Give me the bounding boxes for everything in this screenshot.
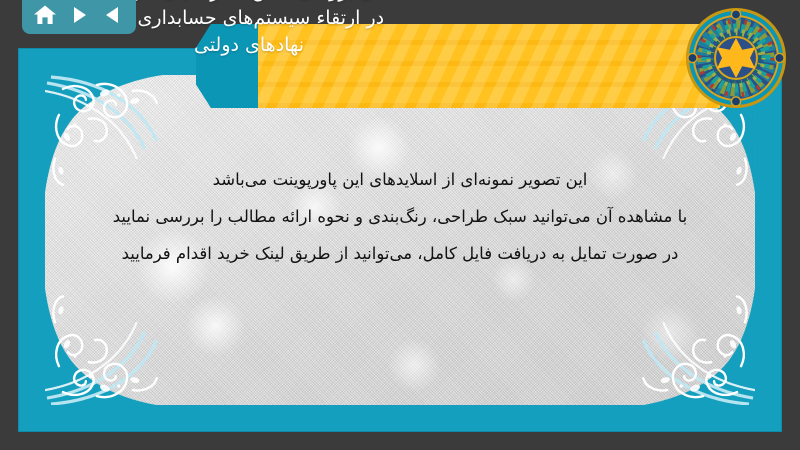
body-line-2: با مشاهده آن می‌توانید سبک طراحی، رنگ‌بن… [45, 198, 755, 235]
next-arrow-icon [68, 5, 90, 25]
slide-stage: این تصویر نمونه‌ای از اسلایدهای این پاور… [0, 0, 800, 450]
slide-content-area: این تصویر نمونه‌ای از اسلایدهای این پاور… [45, 75, 755, 405]
slide-body-text: این تصویر نمونه‌ای از اسلایدهای این پاور… [45, 161, 755, 272]
next-slide-button[interactable] [65, 2, 93, 28]
body-line-1: این تصویر نمونه‌ای از اسلایدهای این پاور… [45, 161, 755, 198]
slide-frame: این تصویر نمونه‌ای از اسلایدهای این پاور… [18, 48, 782, 432]
previous-arrow-icon [102, 5, 124, 25]
persian-medallion-ornament [684, 6, 788, 110]
body-line-3: در صورت تمایل به دریافت فایل کامل، می‌تو… [45, 235, 755, 272]
navigation-bar [22, 0, 136, 34]
home-button[interactable] [31, 2, 59, 28]
home-icon [33, 4, 57, 26]
title-line-3: نهادهای دولتی [0, 32, 498, 59]
previous-slide-button[interactable] [99, 2, 127, 28]
